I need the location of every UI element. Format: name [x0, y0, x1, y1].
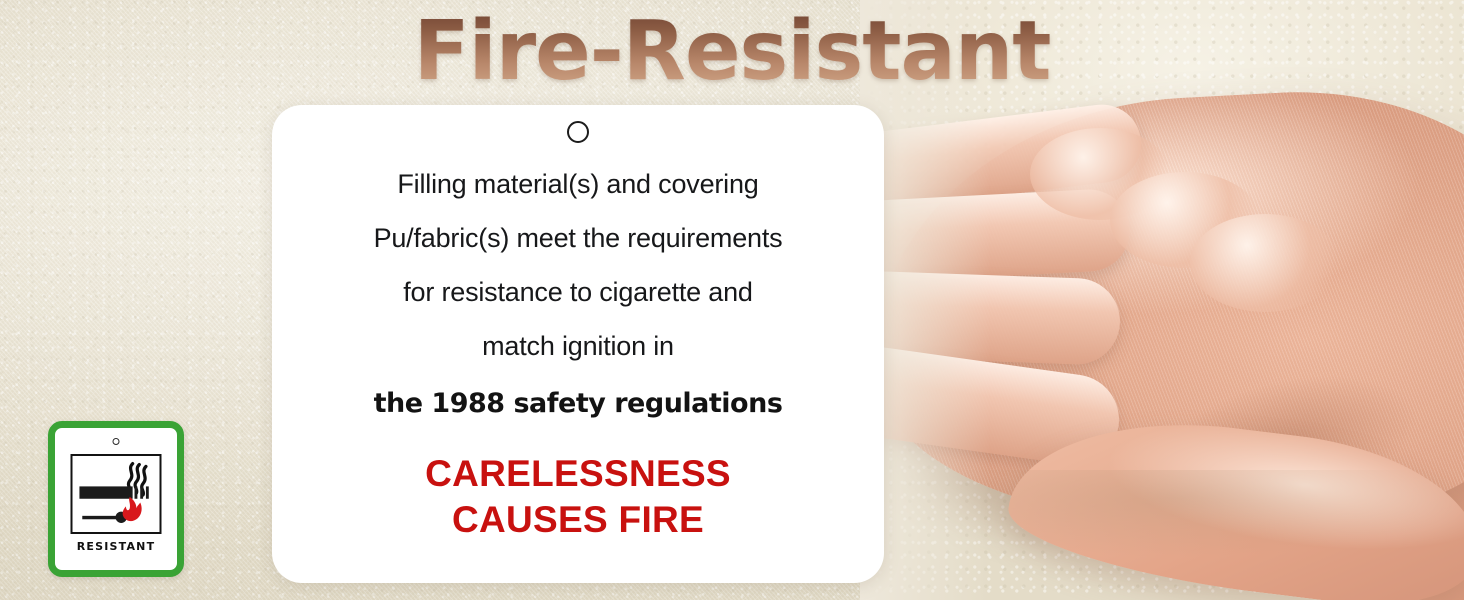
resistant-badge: RESISTANT: [48, 421, 184, 577]
fire-label-card: Filling material(s) and covering Pu/fabr…: [272, 105, 884, 583]
label-regulation-line: the 1988 safety regulations: [272, 385, 884, 423]
label-line-4: match ignition in: [272, 319, 884, 373]
fire-resistant-banner: Fire-Resistant Filling material(s) and c…: [0, 0, 1464, 600]
cigarette-match-flame-icon: [73, 456, 160, 532]
warning-line-2: CAUSES FIRE: [272, 497, 884, 543]
fire-label-text-block: Filling material(s) and covering Pu/fabr…: [272, 157, 884, 543]
warning-line-1: CARELESSNESS: [272, 451, 884, 497]
knuckle-highlight: [1190, 214, 1340, 312]
badge-hole-icon: [113, 438, 120, 445]
badge-caption: RESISTANT: [55, 540, 177, 553]
label-line-2: Pu/fabric(s) meet the requirements: [272, 211, 884, 265]
page-title: Fire-Resistant: [0, 6, 1464, 98]
badge-pictogram: [71, 454, 162, 534]
label-line-1: Filling material(s) and covering: [272, 157, 884, 211]
hole-circle-icon: [567, 121, 589, 143]
label-line-3: for resistance to cigarette and: [272, 265, 884, 319]
